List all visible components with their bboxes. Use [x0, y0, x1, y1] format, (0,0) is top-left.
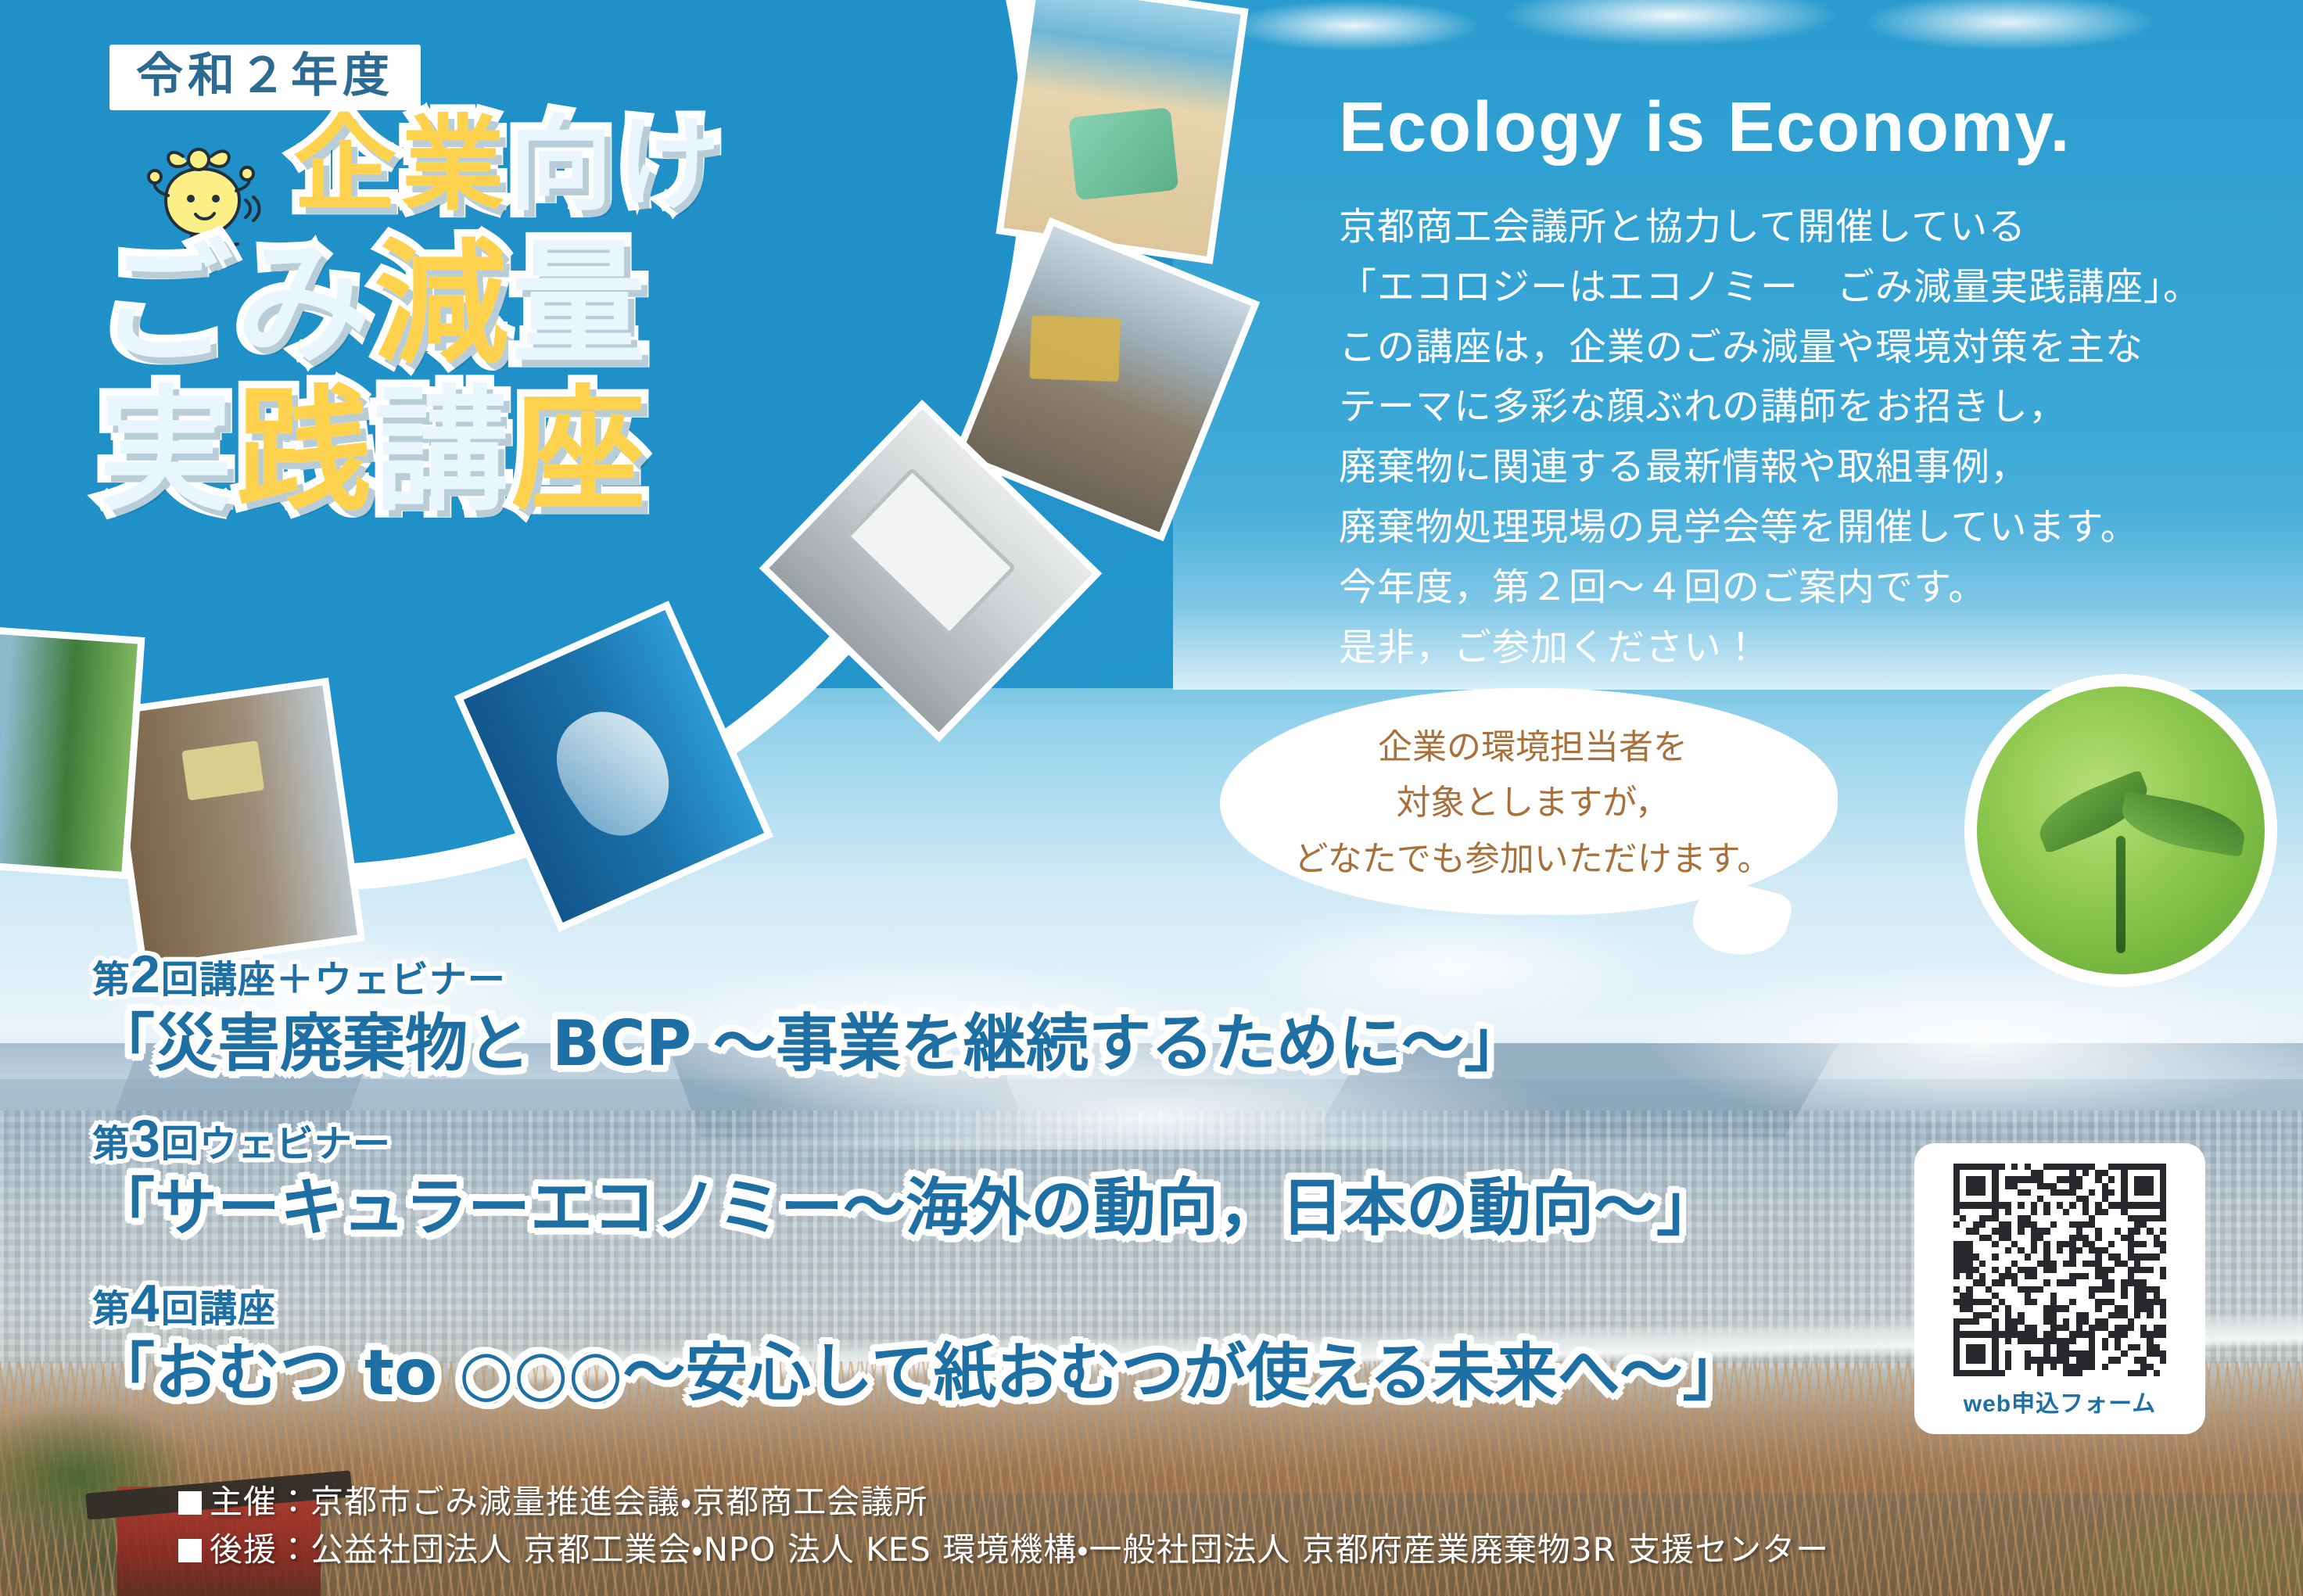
photo-disaster-debris-rescue: [104, 677, 365, 972]
title-line-3: 実践講座: [99, 384, 970, 518]
footer-supporter: 後援：公益社団法人 京都工業会・NPO 法人 KES 環境機構・一般社団法人 京…: [178, 1526, 2274, 1574]
photo-river-nature: [0, 622, 145, 880]
qr-application-card[interactable]: web申込フォーム: [1914, 1143, 2205, 1434]
bubble-line: 企業の環境担当者を: [1251, 719, 1814, 775]
intro-paragraph: 京都商工会議所と協力して開催している 「エコロジーはエコノミー ごみ減量実践講座…: [1339, 197, 2246, 677]
seminar-number: 第3回ウェビナー: [92, 1112, 1860, 1165]
seminar-title: 「サーキュラーエコノミー〜海外の動向，日本の動向〜」: [92, 1175, 1860, 1242]
intro-line: テーマに多彩な顔ぶれの講師をお招きし，: [1339, 377, 2246, 437]
seminar-number: 第4回講座: [92, 1277, 1860, 1330]
footer-organizer: 主催：京都市ごみ減量推進会議・京都商工会議所: [178, 1479, 2274, 1526]
footer: 主催：京都市ごみ減量推進会議・京都商工会議所 後援：公益社団法人 京都工業会・N…: [178, 1479, 2274, 1574]
sprout-image: [1964, 674, 2277, 987]
bullet-square-icon: [178, 1539, 202, 1562]
qr-code-icon[interactable]: [1953, 1164, 2166, 1376]
photo-beach-litter: [995, 0, 1248, 264]
title-line-1: 企業向け: [293, 113, 970, 217]
title-line-2: ごみ減量: [99, 237, 970, 371]
intro-line: 今年度，第２回〜４回のご案内です。: [1339, 558, 2246, 618]
intro-line: 京都商工会議所と協力して開催している: [1339, 197, 2246, 257]
bubble-line: 対象としますが，: [1251, 775, 1814, 830]
intro-line: 廃棄物に関連する最新情報や取組事例，: [1339, 437, 2246, 497]
intro-line: 是非，ご参加ください！: [1339, 618, 2246, 678]
speech-bubble-text: 企業の環境担当者を 対象としますが， どなたでも参加いただけます。: [1251, 719, 1814, 887]
seminar-item: 第3回ウェビナー 「サーキュラーエコノミー〜海外の動向，日本の動向〜」: [92, 1112, 1860, 1242]
intro-line: 「エコロジーはエコノミー ごみ減量実践講座」。: [1339, 257, 2246, 317]
seminar-list: 第2回講座＋ウェビナー 「災害廃棄物と BCP 〜事業を継続するために〜」 第3…: [92, 948, 1860, 1441]
sprout-leaf-right-icon: [2118, 791, 2249, 858]
slogan: Ecology is Economy.: [1339, 92, 2072, 163]
qr-label: web申込フォーム: [1964, 1384, 2156, 1418]
intro-line: 廃棄物処理現場の見学会等を開催しています。: [1339, 497, 2246, 558]
seminar-item: 第2回講座＋ウェビナー 「災害廃棄物と BCP 〜事業を継続するために〜」: [92, 948, 1860, 1078]
intro-line: この講座は，企業のごみ減量や環境対策を主な: [1339, 317, 2246, 378]
seminar-title: 「おむつ to ○○○〜安心して紙おむつが使える未来へ〜」: [92, 1340, 1860, 1407]
sprout-stem-icon: [2116, 836, 2125, 953]
bullet-square-icon: [178, 1491, 202, 1515]
seminar-number: 第2回講座＋ウェビナー: [92, 948, 1860, 1001]
bubble-line: どなたでも参加いただけます。: [1251, 831, 1814, 887]
seminar-title: 「災害廃棄物と BCP 〜事業を継続するために〜」: [92, 1010, 1860, 1078]
year-badge: 令和２年度: [109, 45, 421, 110]
poster-root: 令和２年度 企業向け ごみ減量 実践講座: [0, 0, 2303, 1596]
poster-title: 企業向け ごみ減量 実践講座: [94, 113, 970, 518]
seminar-item: 第4回講座 「おむつ to ○○○〜安心して紙おむつが使える未来へ〜」: [92, 1277, 1860, 1407]
